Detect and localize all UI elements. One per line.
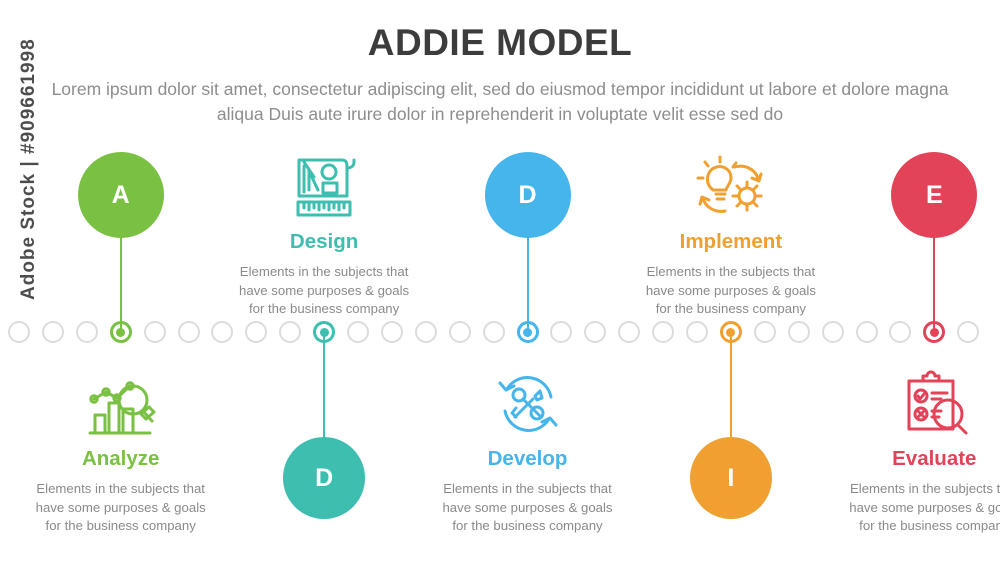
wrench-screwdriver-cycle-icon — [413, 365, 643, 441]
step-heading-analyze: Analyze — [6, 447, 236, 471]
step-heading-develop: Develop — [413, 447, 643, 471]
step-bubble-evaluate[interactable]: E — [891, 152, 977, 238]
step-bubble-design[interactable]: D — [283, 437, 365, 519]
step-block-analyze: AnalyzeElements in the subjects that hav… — [6, 365, 236, 536]
timeline-dot — [76, 321, 98, 343]
step-bubble-analyze[interactable]: A — [78, 152, 164, 238]
timeline-dot — [652, 321, 674, 343]
timeline-dot — [245, 321, 267, 343]
step-description-implement: Elements in the subjects that have some … — [616, 263, 846, 319]
timeline-dot — [550, 321, 572, 343]
step-heading-implement: Implement — [616, 230, 846, 254]
timeline-track — [0, 321, 1000, 349]
timeline-dot — [856, 321, 878, 343]
bar-chart-magnifier-icon — [6, 365, 236, 441]
blueprint-ruler-icon — [209, 148, 439, 224]
timeline-dot — [211, 321, 233, 343]
timeline-dot — [279, 321, 301, 343]
timeline-dot — [788, 321, 810, 343]
step-description-evaluate: Elements in the subjects that have some … — [819, 480, 1000, 536]
step-description-develop: Elements in the subjects that have some … — [413, 480, 643, 536]
step-bubble-letter: I — [727, 464, 734, 493]
timeline-dot — [144, 321, 166, 343]
step-heading-design: Design — [209, 230, 439, 254]
step-bubble-letter: D — [315, 464, 333, 493]
step-bubble-letter: A — [112, 181, 130, 210]
step-heading-evaluate: Evaluate — [819, 447, 1000, 471]
infographic-canvas: ADDIE MODEL Lorem ipsum dolor sit amet, … — [0, 0, 1000, 563]
timeline-dot — [42, 321, 64, 343]
clipboard-checklist-magnifier-icon — [819, 365, 1000, 441]
step-bubble-letter: E — [926, 181, 943, 210]
step-block-develop: DevelopElements in the subjects that hav… — [413, 365, 643, 536]
timeline-dot — [957, 321, 979, 343]
timeline-dot — [483, 321, 505, 343]
timeline-dot — [8, 321, 30, 343]
step-bubble-implement[interactable]: I — [690, 437, 772, 519]
page-title: ADDIE MODEL — [0, 22, 1000, 64]
timeline-dot — [754, 321, 776, 343]
timeline-dot — [822, 321, 844, 343]
step-description-design: Elements in the subjects that have some … — [209, 263, 439, 319]
lightbulb-gear-cycle-icon — [616, 148, 846, 224]
timeline-dot — [178, 321, 200, 343]
step-block-design: DesignElements in the subjects that have… — [209, 148, 439, 319]
step-bubble-letter: D — [518, 181, 536, 210]
timeline-dot — [618, 321, 640, 343]
timeline-dot — [584, 321, 606, 343]
timeline-dot — [889, 321, 911, 343]
step-bubble-develop[interactable]: D — [485, 152, 571, 238]
step-description-analyze: Elements in the subjects that have some … — [6, 480, 236, 536]
watermark-label: Adobe Stock | #909661998 — [18, 38, 40, 300]
timeline-dot — [686, 321, 708, 343]
timeline-dot — [347, 321, 369, 343]
timeline-dot — [415, 321, 437, 343]
page-subtitle: Lorem ipsum dolor sit amet, consectetur … — [40, 77, 960, 127]
timeline-dot — [449, 321, 471, 343]
timeline-dot — [381, 321, 403, 343]
step-block-evaluate: EvaluateElements in the subjects that ha… — [819, 365, 1000, 536]
step-block-implement: ImplementElements in the subjects that h… — [616, 148, 846, 319]
